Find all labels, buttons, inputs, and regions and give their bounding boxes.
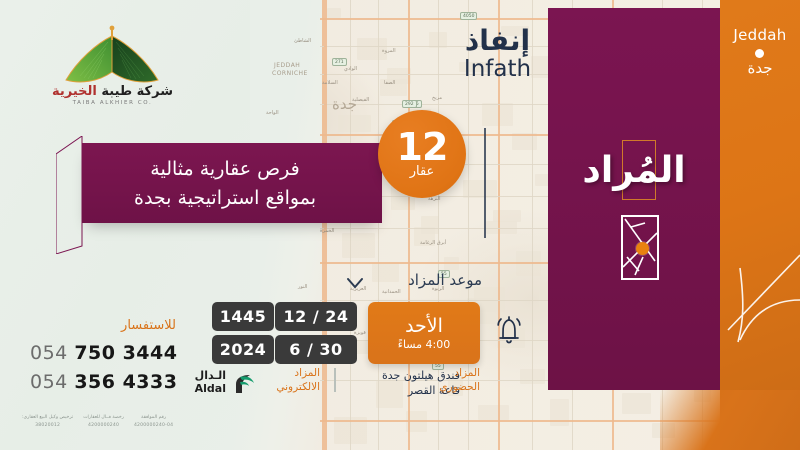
infath-logo: إنفاذ Infath bbox=[440, 24, 555, 82]
phone-number-1[interactable]: 054 750 3444 bbox=[30, 342, 180, 364]
headline-banner: فرص عقارية مثالية بمواقع استراتيجية بجدة bbox=[82, 143, 382, 223]
auction-time: 4:00 مساءً bbox=[398, 338, 450, 351]
auctioneer-name-english: Aldal bbox=[182, 382, 226, 395]
headline-line-2: بمواقع استراتيجية بجدة bbox=[82, 184, 368, 213]
legal-item-value: 4200000240-04 bbox=[134, 422, 173, 430]
in-person-line-1: المزاد bbox=[420, 366, 480, 380]
headline-line-1: فرص عقارية مثالية bbox=[82, 155, 368, 184]
map-label: JEDDAH bbox=[274, 62, 300, 69]
in-person-auction-label: المزاد الحضوري bbox=[420, 366, 480, 394]
map-label: الخمرة bbox=[320, 228, 334, 234]
inquiry-label: للاستفسار bbox=[90, 318, 176, 333]
auction-poster: JEDDAHCORNICHEالواديالسلامةالمروةالصفاال… bbox=[0, 0, 800, 450]
map-label: مريخ bbox=[432, 95, 442, 101]
legal-item: ترخيص وكيل البيع العقاري:38020012 bbox=[22, 414, 73, 440]
map-block bbox=[478, 405, 509, 420]
city-name-arabic: جدة bbox=[720, 59, 800, 77]
auction-day-name: الأحد bbox=[405, 315, 443, 337]
map-block bbox=[338, 115, 371, 132]
legal-item-title: رقم الموافقة bbox=[134, 414, 173, 422]
legal-item-title: ترخيص وكيل البيع العقاري: bbox=[22, 414, 73, 422]
map-label: الوادي bbox=[344, 66, 357, 72]
infath-english: Infath bbox=[440, 56, 555, 82]
gregorian-year-cell: 2024 bbox=[212, 335, 274, 364]
company-logo: شركة طيبة الخيرية TAIBA ALKHIER CO. bbox=[40, 22, 185, 112]
map-label: الشاطئ bbox=[294, 38, 311, 44]
aldal-signal-logo bbox=[230, 371, 256, 397]
phone-2-prefix: 054 bbox=[30, 371, 68, 393]
legal-item: رقم الموافقة4200000240-04 bbox=[134, 414, 173, 440]
green-dome-leaf-logo bbox=[40, 22, 185, 88]
logo-english-name: TAIBA ALKHIER CO. bbox=[40, 100, 185, 106]
map-label: المروة bbox=[382, 48, 396, 54]
map-label: النور bbox=[298, 284, 307, 290]
infath-arabic: إنفاذ bbox=[440, 24, 555, 58]
map-label: الواحة bbox=[266, 110, 279, 116]
map-label: الصفا bbox=[384, 80, 395, 86]
map-label: أبرق الرغامة bbox=[420, 240, 446, 246]
bottom-divider bbox=[334, 368, 336, 392]
property-count-number: 12 bbox=[397, 129, 448, 165]
legal-item-title: رخصة فــال للعقارات bbox=[83, 414, 124, 422]
alarm-bell-icon bbox=[492, 311, 526, 347]
auction-day-badge: الأحد 4:00 مساءً bbox=[368, 302, 480, 364]
phone-2-main: 356 4333 bbox=[74, 371, 177, 393]
auctioneer-name-arabic: الـدال bbox=[182, 369, 226, 382]
map-label: السلامة bbox=[322, 80, 338, 86]
legal-item: رخصة فــال للعقارات4200000240 bbox=[83, 414, 124, 440]
map-block bbox=[421, 216, 439, 234]
in-person-line-2: الحضوري bbox=[420, 380, 480, 394]
logo-arabic-name: شركة طيبة الخيرية bbox=[40, 84, 185, 99]
legal-footer: رقم الموافقة4200000240-04رخصة فــال للعق… bbox=[22, 414, 222, 440]
phone-number-2[interactable]: 054 356 4333 bbox=[30, 371, 180, 393]
map-label: جدة bbox=[332, 95, 357, 113]
gregorian-daymonth-cell: 6 / 30 bbox=[275, 335, 357, 364]
chevron-down-icon[interactable] bbox=[346, 277, 364, 289]
orange-lower-wedge bbox=[660, 390, 800, 450]
map-route-shield: 292 bbox=[402, 100, 417, 108]
auction-date-grid: 1445 12 / 24 2024 6 / 30 bbox=[212, 302, 358, 364]
hijri-daymonth-cell: 12 / 24 bbox=[275, 302, 357, 331]
phone-1-main: 750 3444 bbox=[74, 342, 177, 364]
map-block bbox=[622, 393, 651, 414]
map-label: CORNICHE bbox=[272, 70, 308, 77]
property-count-label: عقار bbox=[410, 164, 435, 179]
map-block bbox=[342, 233, 375, 258]
map-route-shield: 4050 bbox=[460, 12, 477, 20]
map-block bbox=[327, 8, 341, 18]
city-name-english: Jeddah bbox=[720, 26, 800, 44]
legal-item-value: 4200000240 bbox=[83, 422, 124, 430]
project-title: المُراد bbox=[548, 150, 720, 191]
headline-text: فرص عقارية مثالية بمواقع استراتيجية بجدة bbox=[82, 143, 382, 223]
electronic-auction-label: المزاد الالكتروني bbox=[258, 366, 320, 394]
map-highlight-line bbox=[484, 128, 486, 238]
property-count-badge: 12 عقار bbox=[378, 110, 466, 198]
map-route-shield: 271 bbox=[332, 58, 347, 66]
city-marker-dot bbox=[755, 49, 764, 58]
map-label: الحمدانية bbox=[382, 289, 401, 295]
hijri-year-cell: 1445 bbox=[212, 302, 274, 331]
phone-1-prefix: 054 bbox=[30, 342, 68, 364]
auction-date-label: موعد المزاد bbox=[372, 271, 482, 289]
electronic-line-1: المزاد bbox=[258, 366, 320, 380]
electronic-line-2: الالكتروني bbox=[258, 380, 320, 394]
marker-center-dot bbox=[636, 242, 649, 255]
auctioneer-logo: الـدال Aldal bbox=[182, 370, 256, 398]
legal-item-value: 38020012 bbox=[22, 422, 73, 430]
map-road bbox=[324, 0, 327, 450]
